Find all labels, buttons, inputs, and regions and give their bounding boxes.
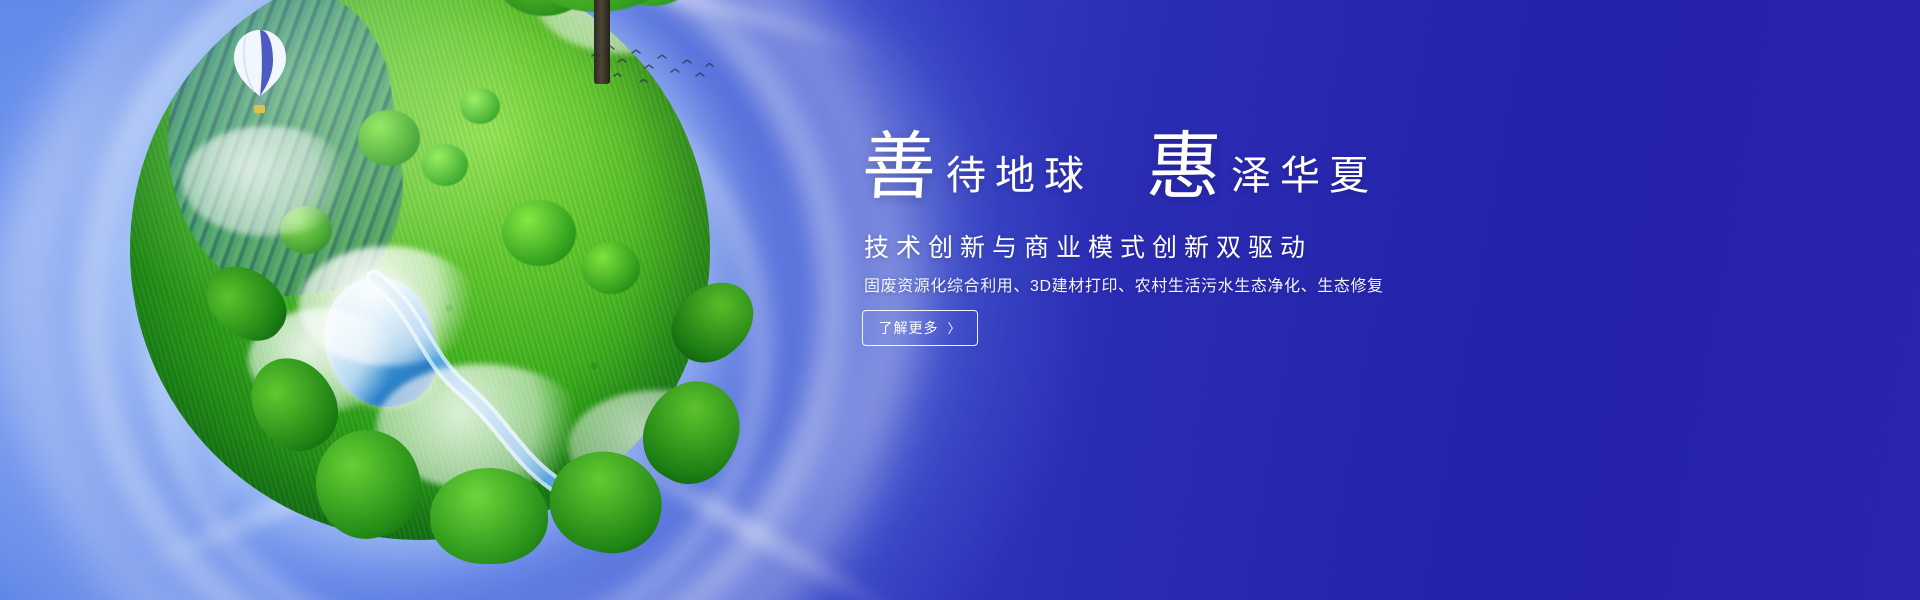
forest-cluster	[422, 144, 468, 186]
forest-cluster	[358, 110, 420, 166]
headline-phrase-one: 善 待地球	[862, 134, 1093, 202]
headline-small-text-1: 待地球	[936, 156, 1093, 202]
tiny-planet-earth-icon	[130, 0, 710, 600]
forest-cluster	[582, 242, 640, 294]
headline-small-text-2: 泽华夏	[1221, 156, 1378, 202]
hero-banner: 善 待地球 惠 泽华夏 技术创新与商业模式创新双驱动 固废资源化综合利用、3D建…	[0, 0, 1920, 600]
headline-phrase-two: 惠 泽华夏	[1147, 134, 1378, 202]
headline-big-char-1: 善	[860, 134, 938, 202]
headline: 善 待地球 惠 泽华夏	[862, 134, 1378, 202]
bird-flock-icon	[588, 42, 718, 90]
subtitle: 技术创新与商业模式创新双驱动	[864, 228, 1312, 264]
forest-cluster	[502, 200, 576, 266]
banner-content: 善 待地球 惠 泽华夏 技术创新与商业模式创新双驱动 固废资源化综合利用、3D建…	[862, 0, 1602, 600]
cloud-puff	[298, 246, 478, 366]
forest-cluster	[280, 206, 332, 254]
learn-more-button[interactable]: 了解更多 〉	[862, 310, 978, 346]
cloud-puff	[182, 126, 352, 236]
headline-big-char-2: 惠	[1145, 134, 1223, 202]
hot-air-balloon-icon	[232, 28, 288, 120]
forest-cluster	[460, 88, 500, 124]
rim-tree	[430, 468, 548, 564]
learn-more-label: 了解更多	[878, 318, 938, 338]
chevron-right-icon: 〉	[947, 322, 961, 335]
description: 固废资源化综合利用、3D建材打印、农村生活污水生态净化、生态修复	[864, 272, 1384, 296]
